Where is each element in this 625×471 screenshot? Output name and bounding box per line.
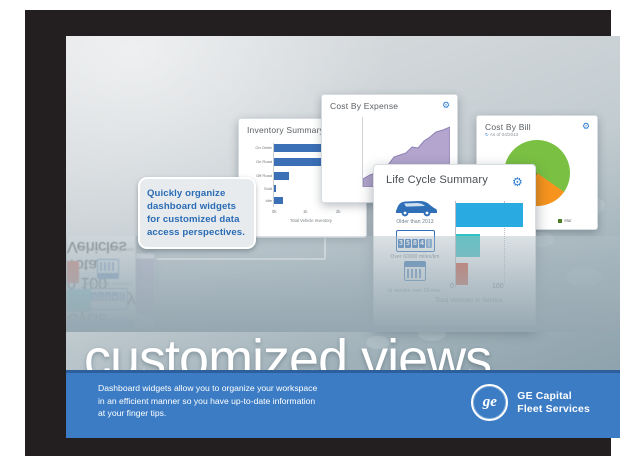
refresh-icon[interactable]: ↻: [67, 300, 80, 317]
brand-line-2: Fleet Services: [517, 403, 590, 416]
slide-canvas: Inventory Summary ⚙ On Order On Road Off…: [66, 36, 620, 438]
callout-text: Quickly organize dashboard widgets for c…: [140, 187, 254, 240]
widget-title-bill: Cost By Bill: [477, 116, 597, 132]
brand-line-1: GE Capital: [517, 390, 590, 403]
widget-cost-by-bill[interactable]: Cost By Bill ↻ As of 04/2013 ⚙ Feb Mar: [66, 244, 126, 332]
lifecycle-item-odometer: 3584| Over 60000 miles/km: [72, 280, 136, 310]
lifecycle-caption: Over 60000 miles/km: [72, 280, 136, 286]
legend-swatch: [67, 268, 71, 272]
x-tick: 0k: [66, 274, 69, 279]
chart-caption-inventory: Total Vehicle Inventory: [67, 265, 133, 319]
footer-top-rule: [66, 370, 620, 373]
footer-line-2: in an efficient manner so you have up-to…: [98, 395, 408, 408]
brand-name: GE Capital Fleet Services: [517, 390, 590, 416]
chart-caption-lifecycle: Total Vehicles In Service: [67, 236, 135, 273]
bar: [274, 172, 289, 180]
x-tick: 0k: [272, 209, 276, 214]
lifecycle-item-in-service: In service over 29 mos.: [72, 246, 136, 279]
x-tick: 2k: [336, 209, 340, 214]
x-tick: 1k: [96, 274, 100, 279]
lifecycle-caption: Older than 2013: [379, 219, 451, 225]
x-tick: 0: [67, 274, 76, 291]
bar: [67, 261, 79, 283]
brand-lockup: ge GE Capital Fleet Services: [471, 384, 590, 421]
axis-label: On Road: [242, 159, 272, 164]
ge-monogram-icon: ge: [471, 384, 508, 421]
footer-line-3: at your finger tips.: [98, 407, 408, 420]
legend-label: Feb: [71, 264, 99, 281]
bokeh-bubble: [536, 308, 568, 324]
chart-lifecycle-bars: [455, 201, 526, 287]
x-axis-ticks-lifecycle: 0 100: [67, 273, 135, 291]
x-tick: 2k: [129, 274, 133, 279]
gear-icon[interactable]: ⚙: [512, 176, 524, 188]
bar: [67, 296, 69, 303]
refresh-icon[interactable]: ↻: [485, 132, 489, 137]
callout-box: Quickly organize dashboard widgets for c…: [138, 177, 256, 249]
as-of-date: As of 04/2013: [67, 282, 125, 317]
bar: [274, 197, 283, 204]
axis-label: On Order: [242, 145, 272, 150]
gear-icon[interactable]: ⚙: [442, 101, 451, 110]
chart-caption-inventory: Total Vehicle Inventory: [261, 218, 361, 223]
widget-subtitle-bill: ↻ As of 04/2013: [485, 132, 518, 138]
legend-label: Mar: [67, 246, 95, 263]
legend-label: Mar: [564, 218, 571, 223]
widget-life-cycle-summary[interactable]: Life Cycle Summary ⚙ Older than 2013: [66, 236, 136, 332]
gear-icon[interactable]: ⚙: [582, 122, 591, 131]
device-frame: Inventory Summary ⚙ On Order On Road Off…: [25, 10, 611, 456]
footer-banner: Dashboard widgets allow you to organize …: [66, 370, 620, 438]
legend-swatch: [103, 268, 107, 272]
lifecycle-item-odometer: 3584| Over 60000 miles/km: [379, 230, 451, 260]
legend-swatch: [558, 219, 562, 223]
area-chart-svg: [67, 259, 154, 329]
slide-stage: Inventory Summary ⚙ On Order On Road Off…: [0, 0, 625, 471]
widget-life-cycle-summary[interactable]: Life Cycle Summary ⚙ Older than 2013: [373, 164, 536, 326]
bar: [456, 234, 480, 257]
legend-item: Mar: [67, 246, 107, 281]
calendar-icon: [97, 259, 119, 279]
lifecycle-item-in-service: In service over 29 mos.: [379, 261, 451, 294]
widget-title-lifecycle: Life Cycle Summary: [67, 291, 135, 332]
bar: [67, 284, 76, 291]
bokeh-bubble: [566, 268, 602, 287]
as-of-date: As of 04/2013: [490, 132, 518, 137]
x-tick: 1k: [303, 209, 307, 214]
bar: [456, 263, 468, 285]
lifecycle-caption: Older than 2013: [72, 315, 136, 321]
footer-line-1: Dashboard widgets allow you to organize …: [98, 382, 408, 395]
chart-expense-area: [67, 254, 154, 329]
x-tick: 100: [492, 283, 504, 290]
widget-inventory-summary[interactable]: Inventory Summary ⚙ On Order On Road Off…: [66, 264, 134, 332]
chart-legend-bill: Feb Mar: [67, 245, 125, 281]
lifecycle-caption: In service over 29 mos.: [379, 288, 451, 294]
chart-caption-lifecycle: Total Vehicles In Service: [404, 298, 534, 304]
lifecycle-caption: Over 60000 miles/km: [379, 254, 451, 260]
calendar-icon: [404, 261, 426, 281]
legend-item: Mar: [558, 218, 571, 223]
widget-title-lifecycle: Life Cycle Summary: [374, 165, 535, 186]
odometer-icon: 3584|: [396, 230, 435, 252]
legend-item: Feb: [67, 264, 99, 281]
bar: [67, 308, 82, 316]
widget-subtitle-bill: ↻ As of 04/2013: [67, 281, 125, 319]
odometer-icon: 3584|: [89, 288, 128, 310]
car-icon: [392, 197, 438, 217]
lifecycle-item-older-than: Older than 2013: [379, 197, 451, 225]
x-tick: 0: [450, 283, 454, 290]
bar: [274, 185, 276, 192]
x-tick: 100: [80, 274, 107, 291]
footer-description: Dashboard widgets allow you to organize …: [98, 382, 408, 420]
bar: [67, 289, 91, 312]
bar: [456, 203, 523, 227]
widget-cost-by-expense[interactable]: Cost By Expense ⚙: [66, 253, 155, 332]
widget-title-expense: Cost By Expense: [322, 95, 457, 111]
lifecycle-body: Older than 2013 3584| Over 60000 miles/k…: [374, 195, 535, 303]
callout-connector-horizontal: [156, 258, 326, 260]
lifecycle-caption: In service over 29 mos.: [72, 246, 136, 252]
